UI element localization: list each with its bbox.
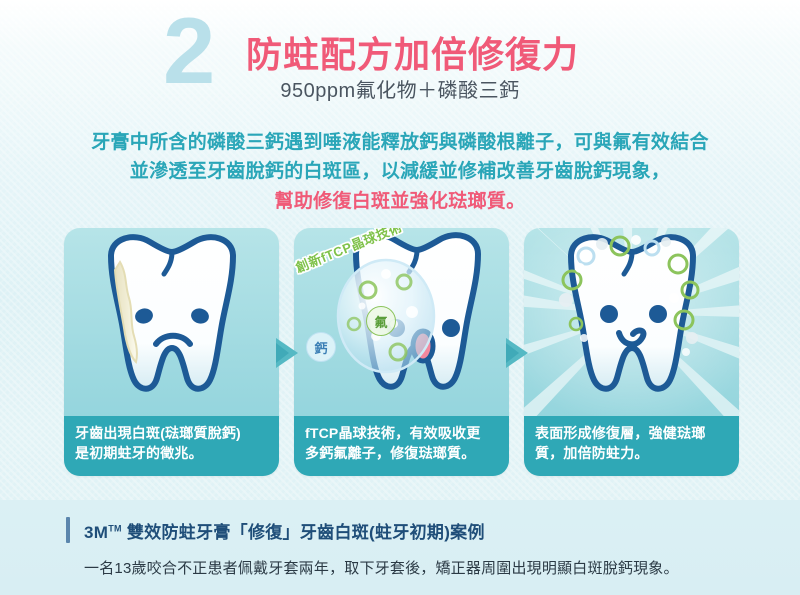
panel-step-3: 表面形成修復層，強健琺瑯 質，加倍防蛀力。 <box>524 228 739 476</box>
case-heading-rest: 雙效防蛀牙膏「修復」牙齒白斑(蛀牙初期)案例 <box>122 523 485 542</box>
panel-1-caption: 牙齒出現白斑(琺瑯質脫鈣) 是初期蛀牙的徵兆。 <box>64 416 279 476</box>
panel-3-caption: 表面形成修復層，強健琺瑯 質，加倍防蛀力。 <box>524 416 739 476</box>
case-heading-brand: 3M <box>84 523 108 542</box>
sad-tooth-with-white-spot-illustration <box>64 228 279 416</box>
panel-step-1: 牙齒出現白斑(琺瑯質脫鈣) 是初期蛀牙的徵兆。 <box>64 228 279 476</box>
panel-1-caption-line-1: 牙齒出現白斑(琺瑯質脫鈣) <box>75 424 270 444</box>
intro-paragraph: 牙膏中所含的磷酸三鈣遇到唾液能釋放鈣與磷酸根離子，可與氟有效結合 並滲透至牙齒脫… <box>0 128 800 216</box>
arrow-right-icon-1 <box>276 336 302 370</box>
case-study-section: 3MTM 雙效防蛀牙膏「修復」牙齒白斑(蛀牙初期)案例 一名13歲咬合不正患者佩… <box>0 500 800 595</box>
panel-3-caption-line-2: 質，加倍防蛀力。 <box>535 444 730 464</box>
accent-bar <box>66 517 70 543</box>
happy-repaired-tooth-illustration <box>524 228 739 416</box>
case-study-heading: 3MTM 雙效防蛀牙膏「修復」牙齒白斑(蛀牙初期)案例 <box>84 518 485 543</box>
infographic-page: 2 防蛀配方加倍修復力 950ppm氟化物＋磷酸三鈣 牙膏中所含的磷酸三鈣遇到唾… <box>0 0 800 595</box>
panel-row: 牙齒出現白斑(琺瑯質脫鈣) 是初期蛀牙的徵兆。 <box>64 228 754 476</box>
panel-1-caption-line-2: 是初期蛀牙的徵兆。 <box>75 444 270 464</box>
fluoride-ion-chip: 氟 <box>366 306 396 336</box>
panel-step-2: 創新fTCP晶球技術 鈣 氟 fTCP晶球技術，有效吸收更 多鈣氟離子，修復琺瑯… <box>294 228 509 476</box>
calcium-ion-chip: 鈣 <box>306 332 336 362</box>
header: 2 防蛀配方加倍修復力 950ppm氟化物＋磷酸三鈣 <box>0 0 800 118</box>
page-subtitle: 950ppm氟化物＋磷酸三鈣 <box>0 74 800 103</box>
panel-2-caption-line-1: fTCP晶球技術，有效吸收更 <box>305 424 500 444</box>
intro-line-1: 牙膏中所含的磷酸三鈣遇到唾液能釋放鈣與磷酸根離子，可與氟有效結合 <box>0 128 800 157</box>
intro-line-2: 並滲透至牙齒脫鈣的白斑區，以減緩並修補改善牙齒脫鈣現象， <box>0 157 800 186</box>
panel-2-caption: fTCP晶球技術，有效吸收更 多鈣氟離子，修復琺瑯質。 <box>294 416 509 476</box>
panel-3-caption-line-1: 表面形成修復層，強健琺瑯 <box>535 424 730 444</box>
panel-2-caption-line-2: 多鈣氟離子，修復琺瑯質。 <box>305 444 500 464</box>
page-title: 防蛀配方加倍修復力 <box>246 26 579 78</box>
arrow-right-icon-2 <box>506 336 532 370</box>
intro-line-3: 幫助修復白斑並強化琺瑯質。 <box>0 187 800 216</box>
trademark-icon: TM <box>108 523 122 533</box>
case-study-body: 一名13歲咬合不正患者佩戴牙套兩年，取下牙套後，矯正器周圍出現明顯白斑脫鈣現象。 <box>84 557 679 578</box>
